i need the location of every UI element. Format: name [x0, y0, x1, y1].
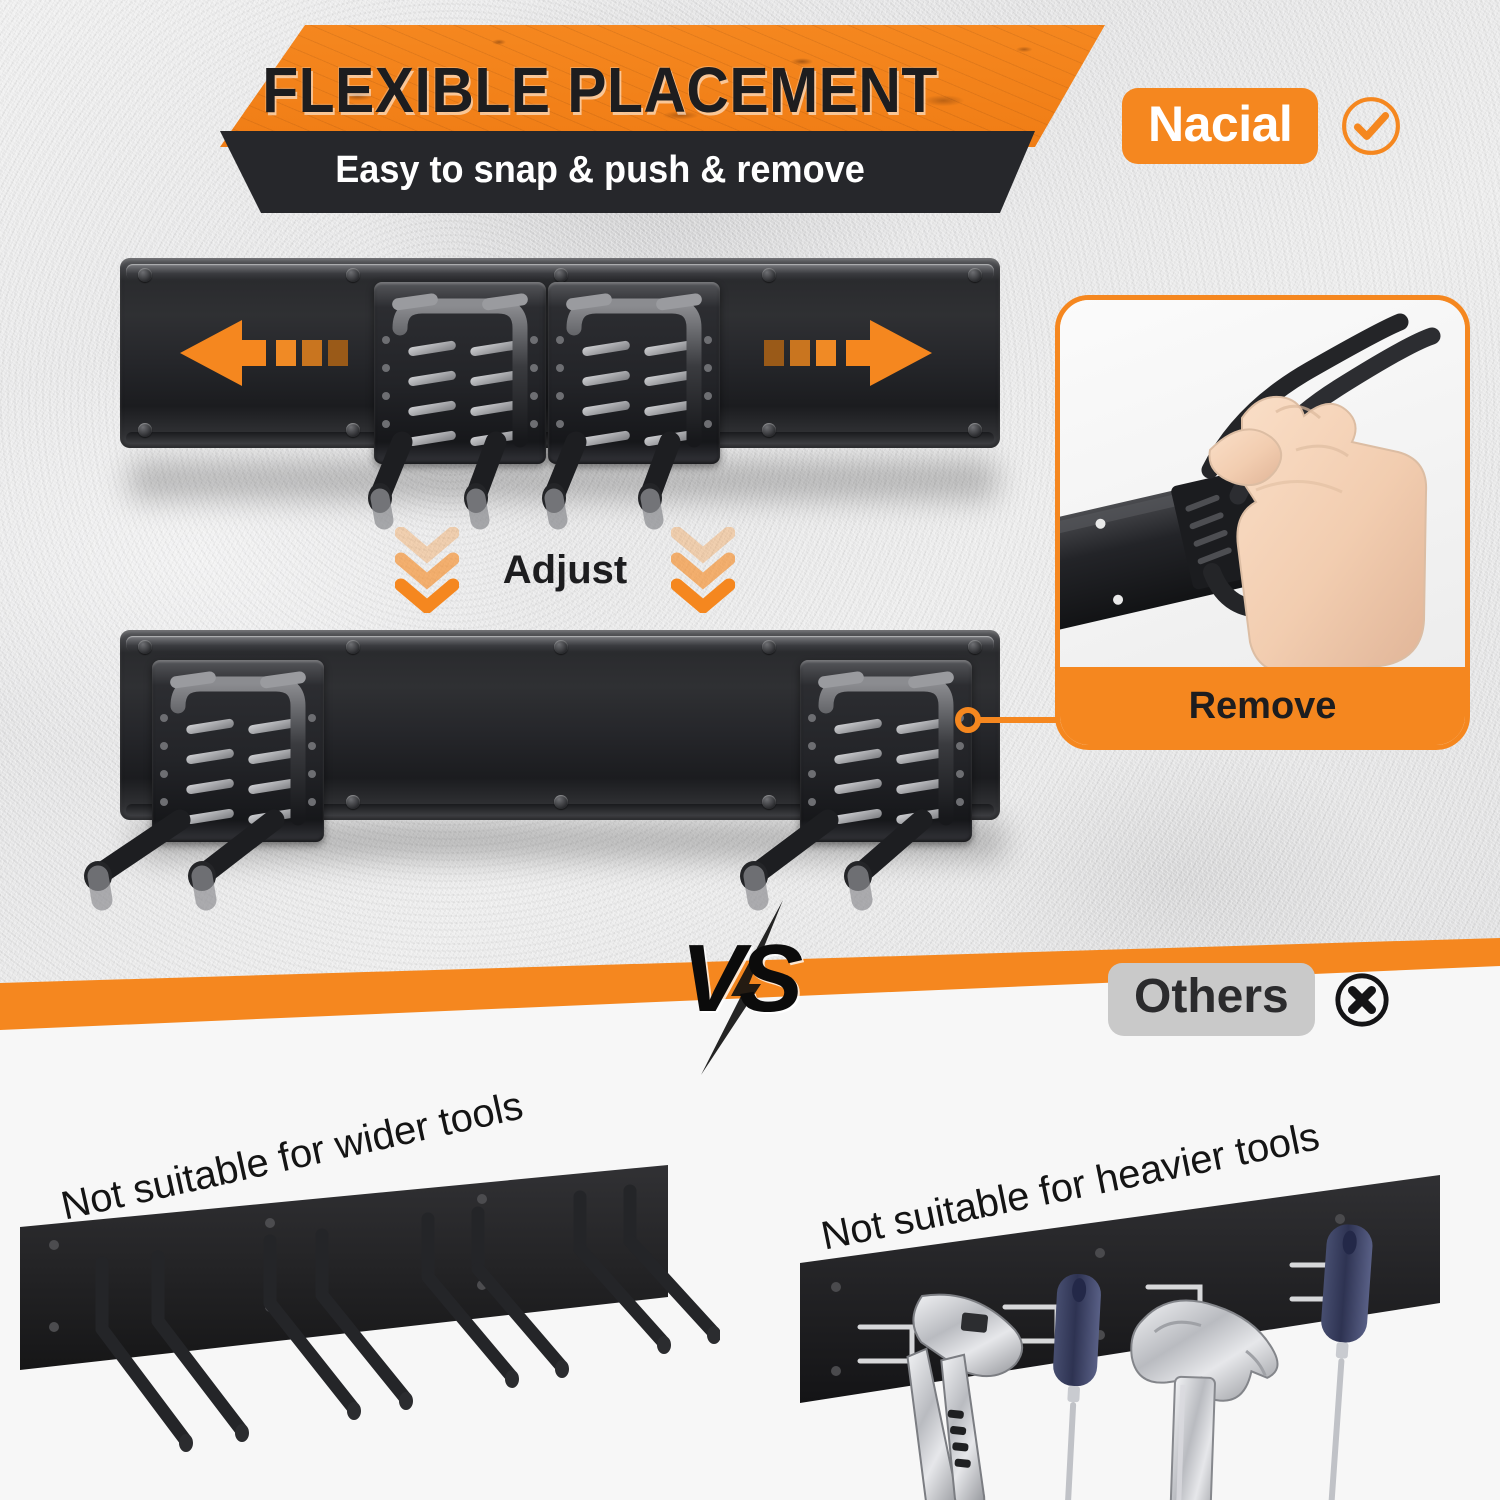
- others-label: Others: [1108, 963, 1315, 1036]
- screw: [762, 268, 776, 282]
- adjust-indicator: Adjust: [395, 520, 735, 620]
- page-subtitle: Easy to snap & push & remove: [120, 149, 1080, 192]
- header-banner: FLEXIBLE PLACEMENT Easy to snap & push &…: [95, 25, 1105, 205]
- hook-assembly[interactable]: [800, 660, 972, 842]
- screw: [968, 268, 982, 282]
- arrow-left-icon: [180, 318, 380, 388]
- screw: [554, 795, 568, 809]
- hook-bracket-icon: [800, 660, 972, 920]
- hook-bracket-icon: [548, 282, 720, 542]
- chevron-down-icon: [671, 527, 735, 613]
- brand-name: Nacial: [1122, 88, 1318, 164]
- check-circle-icon: [1340, 95, 1402, 157]
- brand-badge: Nacial: [1122, 88, 1402, 164]
- hand-removing-hook-illustration: [1060, 300, 1465, 667]
- chevron-down-icon: [395, 527, 459, 613]
- screw: [554, 640, 568, 654]
- screw: [346, 795, 360, 809]
- screw: [346, 423, 360, 437]
- screw: [762, 795, 776, 809]
- remove-callout-card: Remove: [1055, 295, 1470, 750]
- screw: [138, 268, 152, 282]
- others-badge: Others: [1108, 963, 1391, 1036]
- adjust-label: Adjust: [503, 548, 627, 593]
- screw: [968, 423, 982, 437]
- hook-assembly[interactable]: [548, 282, 720, 464]
- screw: [346, 640, 360, 654]
- hook-assembly[interactable]: [374, 282, 546, 464]
- remove-label: Remove: [1060, 667, 1465, 745]
- vs-label: VS: [681, 924, 797, 1034]
- x-circle-icon: [1333, 971, 1391, 1029]
- arrow-right-icon: [732, 318, 932, 388]
- screw: [346, 268, 360, 282]
- hook-assembly[interactable]: [152, 660, 324, 842]
- hook-bracket-icon: [374, 282, 546, 542]
- hook-bracket-icon: [152, 660, 324, 920]
- page-title: FLEXIBLE PLACEMENT: [135, 53, 1064, 127]
- screw: [554, 268, 568, 282]
- vs-badge: VS: [675, 900, 845, 1070]
- screw: [138, 640, 152, 654]
- screw: [138, 423, 152, 437]
- screw: [762, 640, 776, 654]
- screw: [968, 640, 982, 654]
- screw: [762, 423, 776, 437]
- remove-photo: [1060, 300, 1465, 667]
